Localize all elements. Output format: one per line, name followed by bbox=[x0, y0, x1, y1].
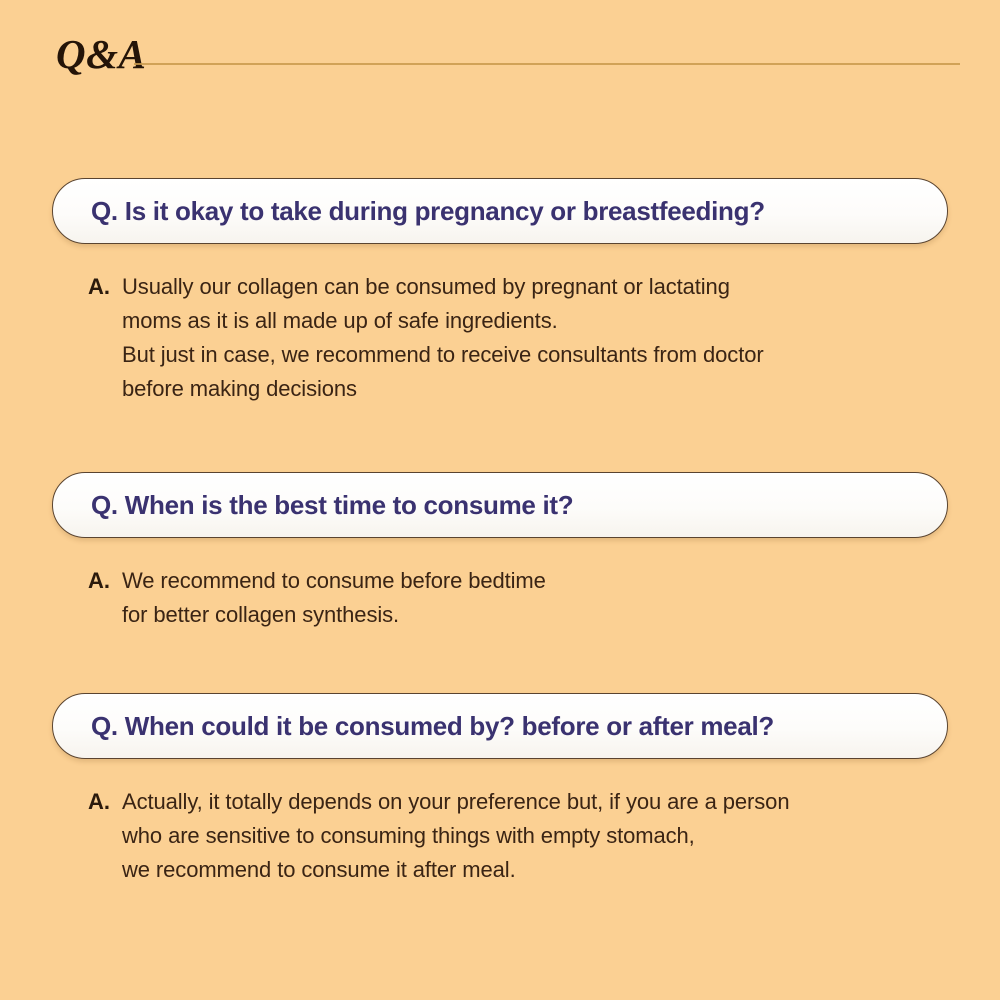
answer-block: A. Actually, it totally depends on your … bbox=[88, 785, 948, 887]
question-text: Q. When could it be consumed by? before … bbox=[53, 713, 802, 739]
answer-block: A. Usually our collagen can be consumed … bbox=[88, 270, 948, 406]
answer-text: We recommend to consume before bedtime f… bbox=[122, 564, 948, 632]
question-pill[interactable]: Q. When is the best time to consume it? bbox=[52, 472, 948, 538]
question-text: Q. Is it okay to take during pregnancy o… bbox=[53, 198, 793, 224]
question-pill[interactable]: Q. When could it be consumed by? before … bbox=[52, 693, 948, 759]
answer-block: A. We recommend to consume before bedtim… bbox=[88, 564, 948, 632]
header-divider bbox=[134, 63, 960, 65]
answer-marker: A. bbox=[88, 785, 122, 819]
answer-text: Usually our collagen can be consumed by … bbox=[122, 270, 948, 406]
answer-text: Actually, it totally depends on your pre… bbox=[122, 785, 948, 887]
answer-marker: A. bbox=[88, 564, 122, 598]
page-title: Q&A bbox=[56, 34, 146, 75]
answer-marker: A. bbox=[88, 270, 122, 304]
question-pill[interactable]: Q. Is it okay to take during pregnancy o… bbox=[52, 178, 948, 244]
page-header: Q&A bbox=[0, 0, 1000, 100]
question-text: Q. When is the best time to consume it? bbox=[53, 492, 601, 518]
